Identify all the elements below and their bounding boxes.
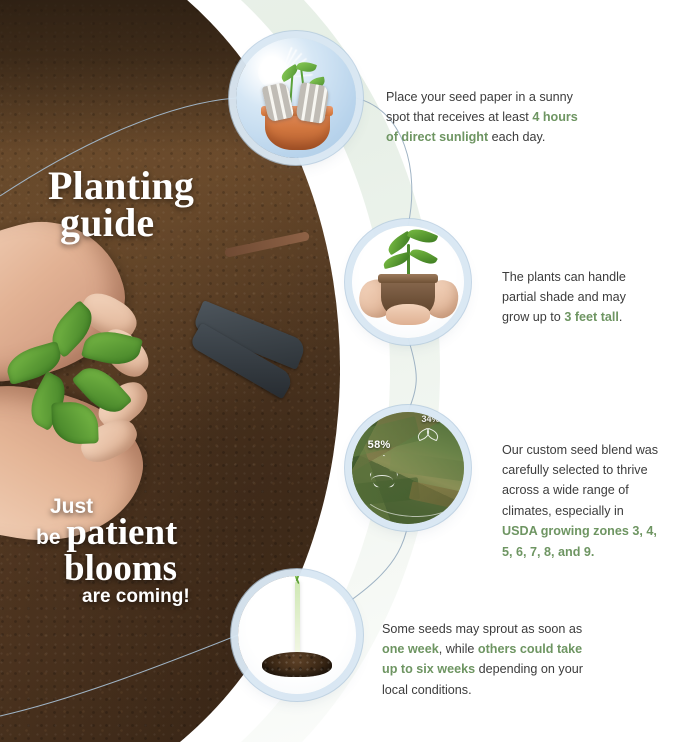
step-image-growing-zones: 58% 34% — [352, 412, 464, 524]
closing-message: Just be patient blooms are coming! — [36, 496, 226, 608]
seedling-leaf — [81, 326, 143, 371]
step-text-shade-height: The plants can handle partial shade and … — [502, 267, 642, 328]
page-title-line-2: guide — [60, 205, 194, 242]
closing-blooms: blooms — [64, 550, 226, 587]
water-drop-level-line — [371, 475, 393, 486]
soil-mound — [262, 652, 333, 678]
moisture-percent-label: 58% — [368, 439, 391, 451]
sprout-hud-icon — [417, 428, 439, 446]
step-image-sunlight — [236, 38, 356, 158]
closing-are-coming: are coming! — [82, 586, 226, 608]
closing-be-patient: be patient — [36, 515, 226, 550]
step-image-germination — [238, 576, 356, 694]
fingers — [386, 304, 431, 324]
planting-guide-infographic: Planting guide Just be patient blooms ar… — [0, 0, 679, 742]
secondary-percent-label: 34% — [421, 414, 439, 424]
closing-be: be — [36, 526, 66, 549]
page-title: Planting guide — [48, 168, 194, 242]
clay-pot-rim — [378, 274, 438, 283]
seedling-leaf — [51, 401, 98, 445]
step-text-sunlight: Place your seed paper in a sunny spot th… — [386, 87, 591, 148]
step-text-germination: Some seeds may sprout as soon as one wee… — [382, 619, 590, 701]
sprout-stem — [295, 581, 300, 657]
closing-patient: patient — [66, 512, 177, 553]
soil-texture — [262, 652, 333, 678]
step-text-growing-zones: Our custom seed blend was carefully sele… — [502, 440, 662, 562]
seedling-in-hands — [0, 308, 160, 458]
step-image-shade-height — [352, 226, 464, 338]
